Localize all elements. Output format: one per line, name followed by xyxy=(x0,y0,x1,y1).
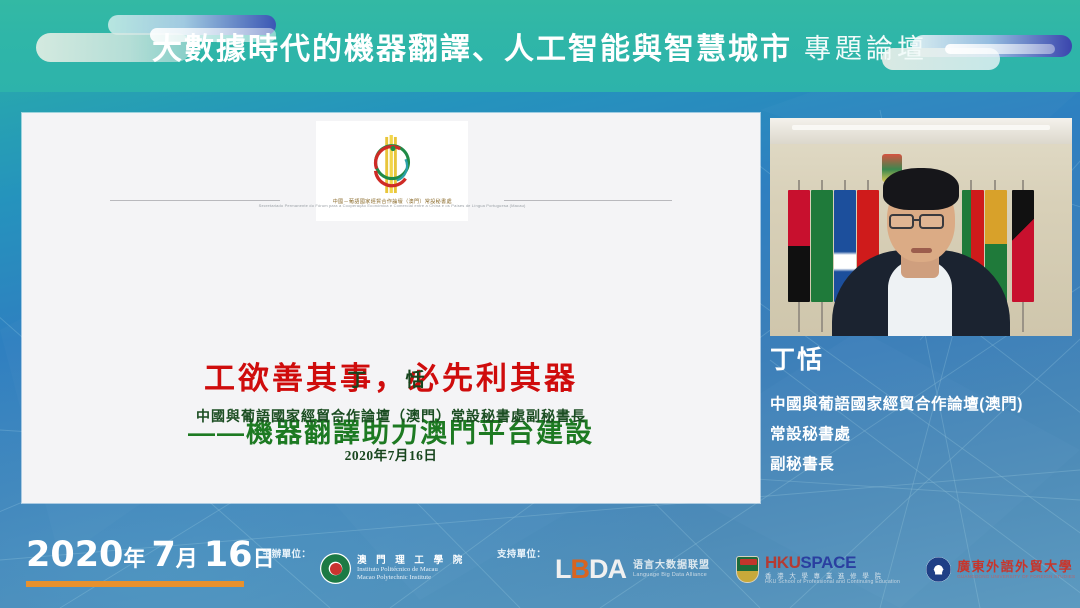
forum-header-banner: 大數據時代的機器翻譯、人工智能與智慧城市 專題論壇 xyxy=(0,0,1080,92)
event-date: 2020年7月16日 xyxy=(26,535,286,575)
hku-name-en: HKU School of Professional and Continuin… xyxy=(765,580,900,586)
eyeglasses-left-lens-icon xyxy=(889,214,914,229)
eyeglasses-bridge-icon xyxy=(914,219,921,221)
speaker-affiliation-line-1: 中國與葡語國家經貿合作論壇(澳門) xyxy=(770,390,1075,420)
logo-hku-space[interactable]: HKU SPACE 香 港 大 學 專 業 進 修 學 院 HKU School… xyxy=(736,553,900,586)
hku-crest-icon xyxy=(736,556,759,583)
slide-date: 2020年7月16日 xyxy=(22,444,760,464)
header-title-suffix: 專題論壇 xyxy=(804,27,928,66)
gdufs-crest-icon xyxy=(926,557,951,582)
speaker-affiliation-line-2: 常設秘書處 xyxy=(770,420,1075,450)
speaker-name: 丁恬 xyxy=(770,340,1075,376)
presentation-stage: 大數據時代的機器翻譯、人工智能與智慧城市 專題論壇 中國－葡語國家經貿合作論壇（… xyxy=(0,0,1080,608)
lbda-letter-d: D xyxy=(589,554,608,584)
lbda-letter-b: B xyxy=(571,554,590,584)
flag-timor-leste xyxy=(1012,190,1034,302)
support-logo-list: LBDA 语言大数据联盟 Language Big Data Alliance … xyxy=(555,553,1075,586)
flag-brazil xyxy=(811,190,833,302)
mpi-name-en: Macao Polytechnic Institute xyxy=(357,574,466,581)
host-label: 主辦單位： xyxy=(262,546,311,560)
speaker-mouth xyxy=(911,248,932,253)
slide-speaker-affiliation: 中國與葡語國家經貿合作論壇（澳門）常設秘書處副秘書長 xyxy=(22,406,760,426)
event-date-day: 16 xyxy=(204,535,253,575)
forum-macao-emblem-icon xyxy=(363,134,421,196)
eyeglasses-right-lens-icon xyxy=(919,214,944,229)
video-ceiling-light xyxy=(792,125,1050,130)
header-title-main: 大數據時代的機器翻譯、人工智能與智慧城市 xyxy=(152,24,792,68)
forum-logo-caption-pt: Secretariado Permanente do Fórum para a … xyxy=(259,204,526,210)
lbda-letter-a: A xyxy=(608,554,627,584)
mpi-name-pt: Instituto Politécnico de Macau xyxy=(357,566,466,573)
logo-macao-polytechnic-institute[interactable]: 澳 門 理 工 學 院 Instituto Politécnico de Mac… xyxy=(320,553,466,584)
lbda-name-cn: 语言大数据联盟 xyxy=(633,560,710,572)
logo-lbda[interactable]: LBDA 语言大数据联盟 Language Big Data Alliance xyxy=(555,556,710,583)
forum-macao-logo: 中國－葡語國家經貿合作論壇（澳門）常設秘書處 Secretariado Perm… xyxy=(316,121,468,221)
forum-logo-caption-cn: 中國－葡語國家經貿合作論壇（澳門）常設秘書處 xyxy=(332,196,451,204)
hku-wordmark: HKU xyxy=(765,553,800,573)
date-accent-bar xyxy=(26,581,244,587)
event-date-month-unit: 月 xyxy=(176,547,198,572)
lbda-wordmark-icon: LBDA xyxy=(555,556,626,583)
space-wordmark: SPACE xyxy=(800,553,856,573)
mpi-name-cn: 澳 門 理 工 學 院 xyxy=(357,556,466,567)
host-sponsor-group: 主辦單位： 澳 門 理 工 學 院 Instituto Politécnico … xyxy=(262,543,466,584)
mpi-crest-icon xyxy=(320,553,351,584)
event-date-year-unit: 年 xyxy=(123,547,145,572)
support-sponsor-group: 支持單位： LBDA 语言大数据联盟 Language Big Data All… xyxy=(497,543,1075,586)
lbda-name-en: Language Big Data Alliance xyxy=(633,572,710,579)
slide-speaker-name: 丁 恬 xyxy=(22,365,760,392)
lbda-letter-l: L xyxy=(555,554,571,584)
divider-line-right xyxy=(504,200,672,201)
slide-logo-row: 中國－葡語國家經貿合作論壇（澳門）常設秘書處 Secretariado Perm… xyxy=(22,119,760,223)
divider-line-left xyxy=(110,200,280,201)
speaker-info-block: 丁恬 中國與葡語國家經貿合作論壇(澳門) 常設秘書處 副秘書長 xyxy=(770,340,1075,481)
gdufs-name-cn: 廣東外語外貿大學 xyxy=(957,559,1075,575)
event-date-month: 7 xyxy=(151,535,175,575)
speaker-affiliation-line-3: 副秘書長 xyxy=(770,450,1075,480)
event-date-block: 2020年7月16日 xyxy=(26,535,286,587)
logo-gdufs[interactable]: 廣東外語外貿大學 GUANGDONG UNIVERSITY OF FOREIGN… xyxy=(926,557,1075,582)
slide-panel[interactable]: 中國－葡語國家經貿合作論壇（澳門）常設秘書處 Secretariado Perm… xyxy=(22,113,760,503)
speaker-video-feed[interactable] xyxy=(770,118,1072,336)
support-label: 支持單位： xyxy=(497,546,546,560)
gdufs-name-en: GUANGDONG UNIVERSITY OF FOREIGN STUDIES xyxy=(957,574,1075,580)
speaker-hair xyxy=(883,168,959,210)
event-date-year: 2020 xyxy=(26,535,123,575)
video-ceiling xyxy=(770,118,1072,144)
header-title: 大數據時代的機器翻譯、人工智能與智慧城市 專題論壇 xyxy=(0,0,1080,92)
flag-angola xyxy=(788,190,810,302)
host-logo-list: 澳 門 理 工 學 院 Instituto Politécnico de Mac… xyxy=(320,553,466,584)
